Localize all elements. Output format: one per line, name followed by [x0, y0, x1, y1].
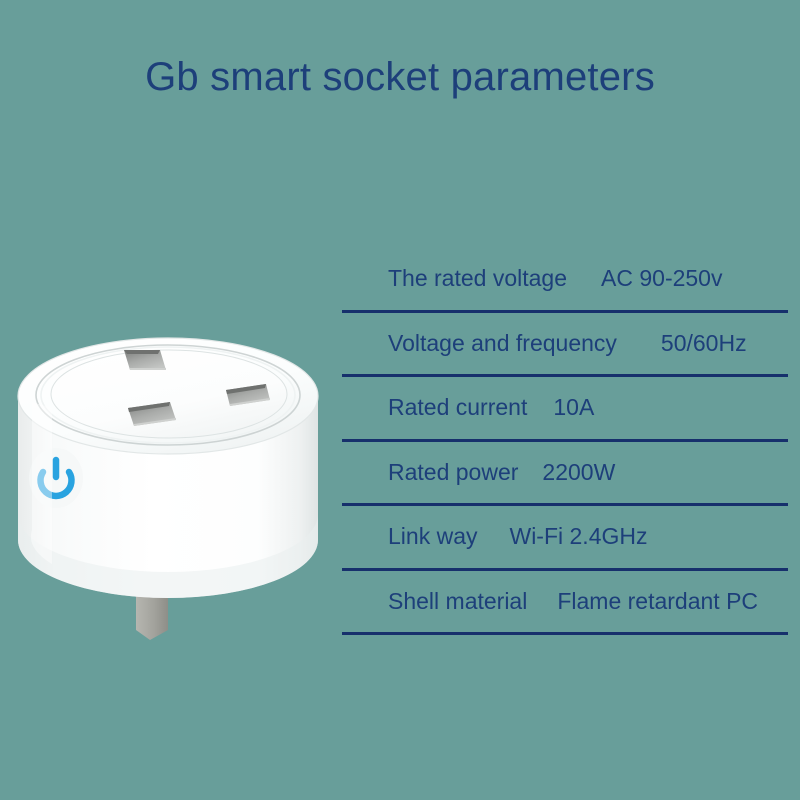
product-spec-page: Gb smart socket parameters: [0, 0, 800, 800]
table-row: Rated power 2200W: [342, 442, 788, 507]
spec-value-rated-voltage: AC 90-250v: [601, 265, 722, 292]
spec-label-rated-current: Rated current: [388, 394, 527, 421]
spec-label-link-way: Link way: [388, 523, 477, 550]
table-row: Rated current 10A: [342, 377, 788, 442]
table-row: Voltage and frequency 50/60Hz: [342, 313, 788, 378]
spec-value-voltage-frequency: 50/60Hz: [661, 330, 747, 357]
page-title: Gb smart socket parameters: [0, 55, 800, 100]
specification-table: The rated voltage AC 90-250v Voltage and…: [342, 248, 788, 635]
table-row: The rated voltage AC 90-250v: [342, 248, 788, 313]
spec-value-rated-current: 10A: [553, 394, 594, 421]
table-row: Shell material Flame retardant PC: [342, 571, 788, 636]
smart-socket-illustration: [8, 278, 328, 658]
table-row: Link way Wi-Fi 2.4GHz: [342, 506, 788, 571]
spec-label-rated-power: Rated power: [388, 459, 518, 486]
spec-value-shell-material: Flame retardant PC: [557, 588, 758, 615]
socket-slot-earth: [124, 350, 166, 370]
spec-label-rated-voltage: The rated voltage: [388, 265, 567, 292]
spec-value-link-way: Wi-Fi 2.4GHz: [509, 523, 647, 550]
socket-top-face: [18, 338, 318, 454]
spec-label-voltage-frequency: Voltage and frequency: [388, 330, 617, 357]
spec-label-shell-material: Shell material: [388, 588, 527, 615]
product-image-smart-socket: [8, 278, 328, 658]
spec-value-rated-power: 2200W: [542, 459, 615, 486]
